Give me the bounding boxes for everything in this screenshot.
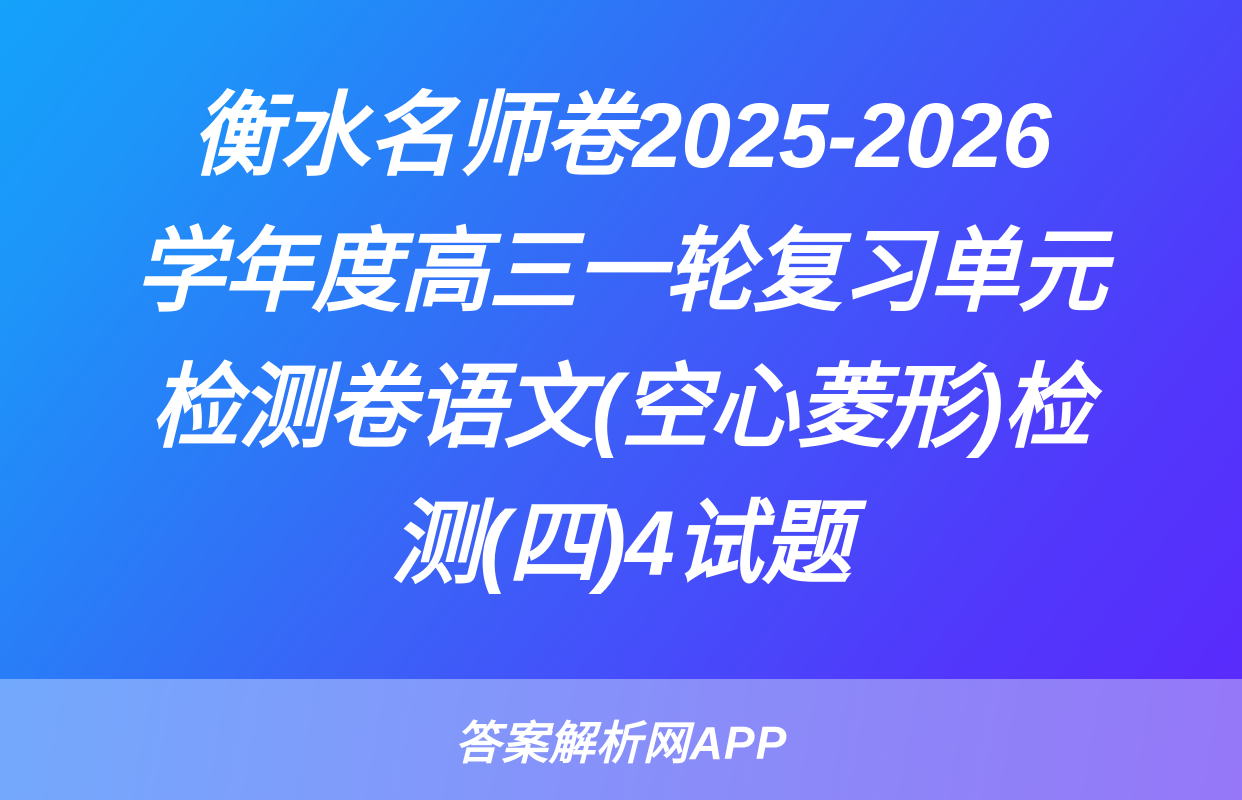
- title-card: 衡水名师卷2025-2026 学年度高三一轮复习单元 检测卷语文(空心菱形)检 …: [0, 0, 1242, 800]
- title-line-2: 学年度高三一轮复习单元: [135, 204, 1106, 340]
- promo-banner[interactable]: 答案解析网APP: [0, 679, 1242, 800]
- title-line-1: 衡水名师卷2025-2026: [191, 68, 1050, 204]
- title-line-3: 检测卷语文(空心菱形)检: [151, 340, 1091, 476]
- title-block: 衡水名师卷2025-2026 学年度高三一轮复习单元 检测卷语文(空心菱形)检 …: [0, 0, 1242, 679]
- promo-banner-label: 答案解析网APP: [455, 707, 788, 773]
- title-line-4: 测(四)4试题: [391, 476, 850, 612]
